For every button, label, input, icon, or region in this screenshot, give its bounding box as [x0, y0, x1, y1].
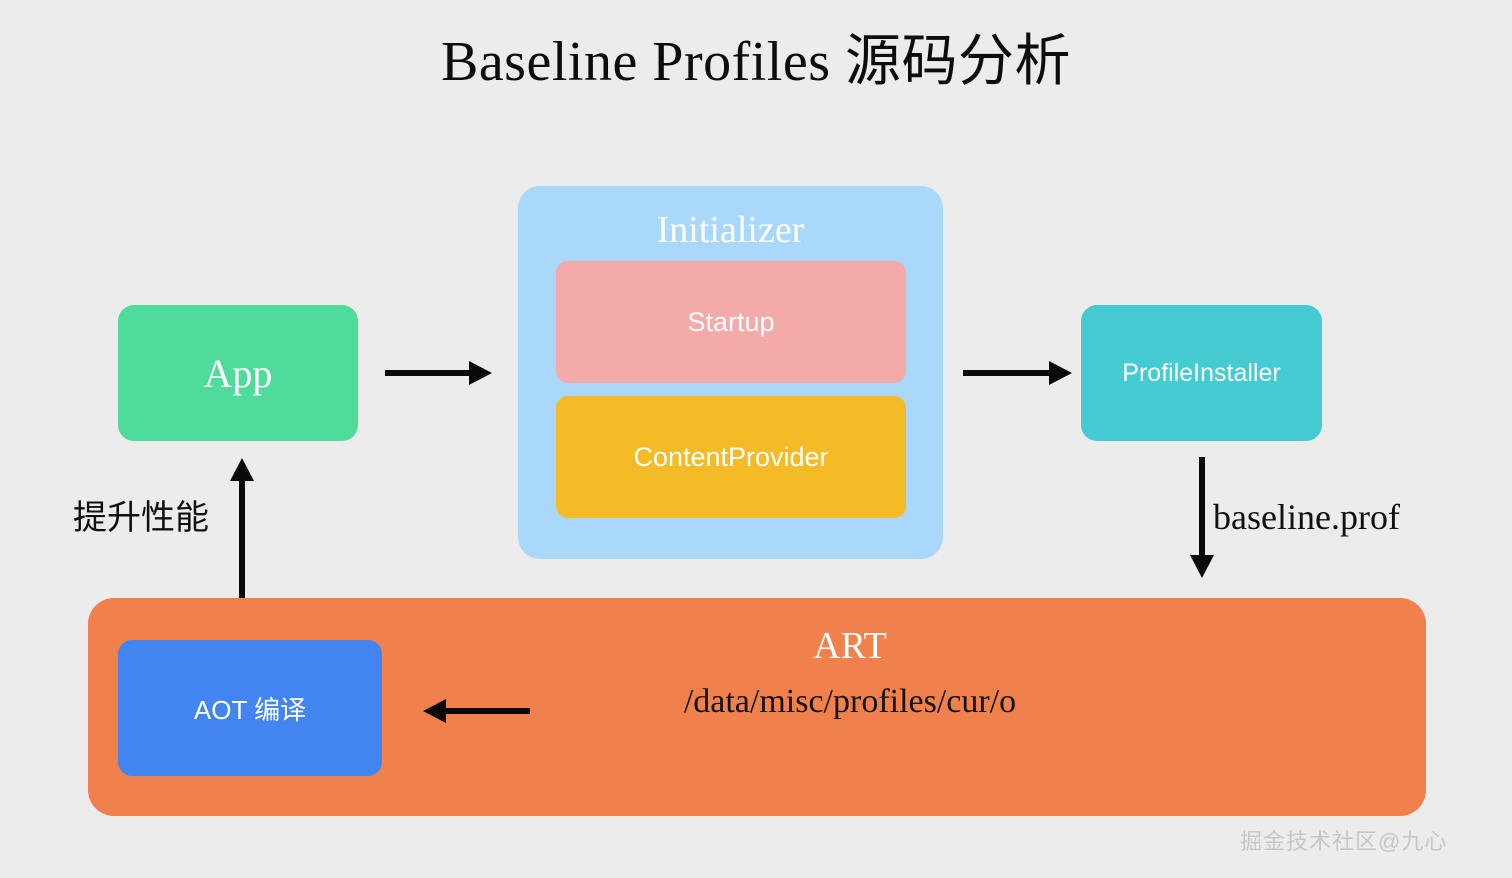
- node-aot-compile-label: AOT 编译: [194, 690, 306, 727]
- node-content-provider-label: ContentProvider: [633, 442, 828, 473]
- node-art-label: ART: [648, 623, 1052, 669]
- node-art-path-label: /data/misc/profiles/cur/o: [558, 680, 1142, 724]
- arrow-artpath-to-aot: [422, 696, 532, 726]
- edge-label-baseline-prof: baseline.prof: [1213, 494, 1400, 540]
- node-startup-label: Startup: [687, 307, 774, 338]
- node-app: App: [118, 305, 358, 441]
- node-initializer-label: Initializer: [518, 206, 943, 254]
- arrow-initializer-to-profileinstaller: [961, 358, 1073, 388]
- node-aot-compile: AOT 编译: [118, 640, 382, 776]
- arrow-aot-to-app: [226, 455, 258, 611]
- arrow-app-to-initializer: [383, 358, 493, 388]
- page-title: Baseline Profiles 源码分析: [0, 26, 1512, 98]
- watermark: 掘金技术社区@九心: [1240, 827, 1447, 857]
- node-profile-installer: ProfileInstaller: [1081, 305, 1322, 441]
- node-profile-installer-label: ProfileInstaller: [1122, 359, 1280, 388]
- node-content-provider: ContentProvider: [556, 396, 906, 518]
- diagram-canvas: Baseline Profiles 源码分析 App Initializer S…: [0, 0, 1512, 878]
- edge-label-improve-performance: 提升性能: [73, 497, 209, 541]
- node-app-label: App: [204, 350, 273, 397]
- node-startup: Startup: [556, 261, 906, 383]
